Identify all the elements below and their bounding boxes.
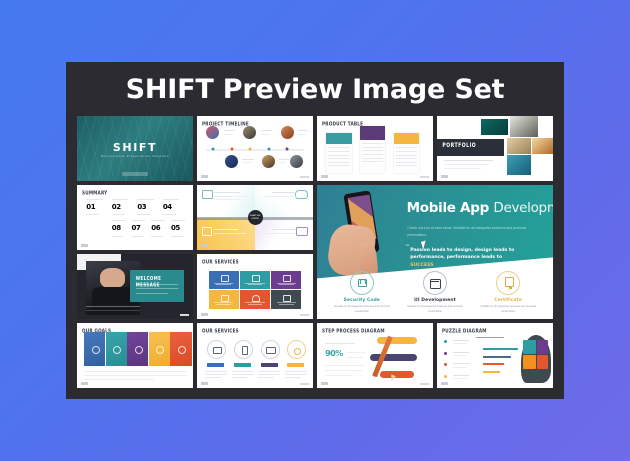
slide-title: OUR SERVICES (202, 327, 239, 334)
portfolio-image (507, 155, 531, 175)
slide-welcome-message[interactable]: WELCOME MESSAGE (77, 254, 193, 319)
service-label-bar (287, 363, 304, 367)
slide-step-process-diagram[interactable]: STEP PROCESS DIAGRAM 90% (317, 323, 433, 388)
feature-name: UI Development (404, 298, 465, 303)
puzzle-piece (523, 355, 536, 369)
puzzle-piece (537, 340, 549, 354)
window-icon (423, 271, 447, 295)
slide-title: WELCOME MESSAGE (136, 275, 184, 288)
timeline-photo (262, 155, 275, 168)
portfolio-image (507, 138, 531, 154)
flag-icon (156, 346, 164, 354)
offer-center-label: WHAT WE OFFER (248, 215, 263, 220)
id-card-icon (202, 227, 212, 236)
slide-portfolio[interactable]: PORTFOLIO (437, 116, 553, 181)
portfolio-image (532, 138, 553, 154)
timeline-axis (206, 149, 303, 151)
portfolio-image (510, 116, 538, 137)
slide-our-services-tiles[interactable]: OUR SERVICES (197, 254, 313, 319)
slide-logo (201, 313, 208, 316)
slide-logo (441, 175, 448, 178)
page-title: SHIFT Preview Image Set (66, 74, 564, 105)
feature-desc: Suitable for all categories business and… (404, 305, 465, 315)
legend-bullet (444, 375, 447, 378)
offer-center-badge: WHAT WE OFFER (248, 210, 263, 225)
slide-title: OUR SERVICES (202, 258, 239, 265)
slide-page-number (300, 176, 309, 178)
timeline-dot (212, 147, 215, 150)
cloud-icon (295, 190, 308, 199)
cover-wordmark: SHIFT (77, 141, 193, 154)
slide-our-services-circles[interactable]: OUR SERVICES (197, 323, 313, 388)
hand-phone-photo (324, 190, 404, 276)
summary-number: 04 (163, 203, 172, 211)
goal-panel[interactable] (170, 332, 191, 366)
chart-bar (483, 371, 499, 373)
summary-number: 06 (151, 224, 160, 232)
timeline-dot (267, 147, 270, 150)
service-label-bar (234, 363, 251, 367)
goal-panel[interactable] (84, 332, 105, 366)
screenshot-stage: SHIFT Preview Image Set SHIFT Multipurpo… (0, 0, 630, 461)
summary-number: 08 (112, 224, 121, 232)
feature-ui-development[interactable]: UI Development Suitable for all categori… (404, 271, 465, 315)
heart-icon (252, 295, 260, 302)
inbox-icon (202, 190, 213, 199)
slide-what-we-offer[interactable]: WHAT WE OFFER (197, 185, 313, 250)
plan-card-business[interactable] (394, 133, 420, 173)
timeline-photo (281, 126, 294, 139)
feature-desc: Suitable for all categories business and… (331, 305, 392, 315)
timeline-dot (286, 147, 289, 150)
slide-page-number (420, 176, 429, 178)
lock-icon (350, 271, 374, 295)
slide-title: PRODUCT TABLE (322, 120, 363, 127)
chart-bar (483, 356, 511, 358)
slide-logo (201, 175, 208, 178)
slide-our-goals[interactable]: OUR GOALS (77, 323, 193, 388)
timeline-photo (243, 126, 256, 139)
slide-grid: SHIFT Multipurpose Presentation Template… (77, 116, 553, 388)
slide-product-table[interactable]: PRODUCT TABLE (317, 116, 433, 181)
step-pill[interactable] (380, 371, 415, 378)
feature-name: Security Code (331, 298, 392, 303)
cover-subtitle: Multipurpose Presentation Template (77, 154, 193, 158)
goal-panel[interactable] (127, 332, 148, 366)
feature-name: Certificate (477, 298, 538, 303)
slide-logo (321, 175, 328, 178)
quote-mark-icon: “ (406, 244, 410, 251)
goal-panel[interactable] (106, 332, 127, 366)
summary-number: 07 (132, 224, 141, 232)
portfolio-image (481, 119, 508, 136)
cloud-icon (252, 275, 260, 282)
summary-number: 03 (137, 203, 146, 211)
service-tile[interactable] (271, 271, 301, 289)
slide-title: STEP PROCESS DIAGRAM (322, 327, 385, 334)
portfolio-banner: PORTFOLIO (437, 139, 504, 156)
slide-logo (81, 382, 88, 385)
search-icon (135, 346, 143, 354)
shield-icon (178, 346, 186, 354)
timeline-photo (225, 155, 238, 168)
goal-panel[interactable] (149, 332, 170, 366)
service-tile[interactable] (209, 271, 239, 289)
monitor-icon (296, 227, 308, 236)
timeline-photo (290, 155, 303, 168)
legend-bullet (444, 363, 447, 366)
summary-number: 01 (86, 203, 95, 211)
feature-certificate[interactable]: Certificate Suitable for all categories … (477, 271, 538, 315)
award-icon (496, 271, 520, 295)
inbox-icon (221, 275, 229, 282)
slide-page-number (180, 314, 189, 316)
slide-mobile-app-development[interactable]: Mobile App Development Check out a lot o… (317, 185, 553, 319)
success-rate-value: 90% (325, 349, 343, 358)
puzzle-piece (523, 340, 536, 354)
timeline-dot (230, 147, 233, 150)
slide-shift-cover[interactable]: SHIFT Multipurpose Presentation Template (77, 116, 193, 181)
feature-security-code[interactable]: Security Code Suitable for all categorie… (331, 271, 392, 315)
featured-lead: Check out a lot of extra items. Suitable… (407, 225, 530, 238)
id-card-icon (283, 275, 291, 282)
timeline-photo (206, 126, 219, 139)
slide-title: SUMMARY (82, 189, 107, 196)
chart-bar (483, 348, 518, 350)
slide-title: PORTFOLIO (442, 143, 476, 150)
legend-bullet (444, 340, 447, 343)
plan-card-premium[interactable] (360, 126, 386, 173)
rocket-icon (92, 346, 100, 354)
inbox-icon (207, 340, 226, 359)
mobile-icon (234, 340, 253, 359)
slide-project-timeline[interactable]: PROJECT TIMELINE (197, 116, 313, 181)
legend-bullet (444, 352, 447, 355)
service-label-bar (261, 363, 278, 367)
monitor-icon (261, 340, 280, 359)
summary-number: 02 (112, 203, 121, 211)
cover-badge (122, 172, 148, 176)
bulb-icon (287, 340, 306, 359)
welcome-panel: WELCOME MESSAGE (130, 270, 183, 303)
slide-summary[interactable]: SUMMARY 01 02 03 04 08 07 06 05 (77, 185, 193, 250)
slide-page-number (300, 383, 309, 385)
service-tile[interactable] (240, 290, 270, 308)
slide-logo (201, 244, 208, 247)
slide-page-number (300, 314, 309, 316)
slide-logo (81, 244, 88, 247)
summary-number: 05 (171, 224, 180, 232)
slide-logo (201, 382, 208, 385)
monitor-icon (283, 295, 291, 302)
preview-panel: SHIFT Preview Image Set SHIFT Multipurpo… (66, 62, 564, 399)
slide-puzzle-diagram[interactable]: PUZZLE DIAGRAM (437, 323, 553, 388)
slide-page-number (420, 383, 429, 385)
offer-quadrant[interactable] (197, 185, 255, 218)
slide-logo (441, 382, 448, 385)
puzzle-piece (537, 355, 549, 369)
feature-desc: Suitable for all categories business and… (477, 305, 538, 315)
offer-quadrant[interactable] (255, 185, 313, 218)
slide-title: PUZZLE DIAGRAM (442, 327, 487, 334)
step-pill[interactable] (377, 337, 416, 344)
camera-icon (221, 295, 229, 302)
slide-logo (321, 382, 328, 385)
service-tile[interactable] (240, 271, 270, 289)
diamond-icon (113, 346, 121, 354)
service-label-bar (207, 363, 224, 367)
service-tile[interactable] (209, 290, 239, 308)
chart-bar (483, 363, 504, 365)
service-tile[interactable] (271, 290, 301, 308)
plan-card-basic[interactable] (326, 133, 352, 173)
offer-quadrant[interactable] (255, 218, 313, 251)
featured-title: Mobile App Development (407, 200, 553, 216)
timeline-dot (249, 147, 252, 150)
